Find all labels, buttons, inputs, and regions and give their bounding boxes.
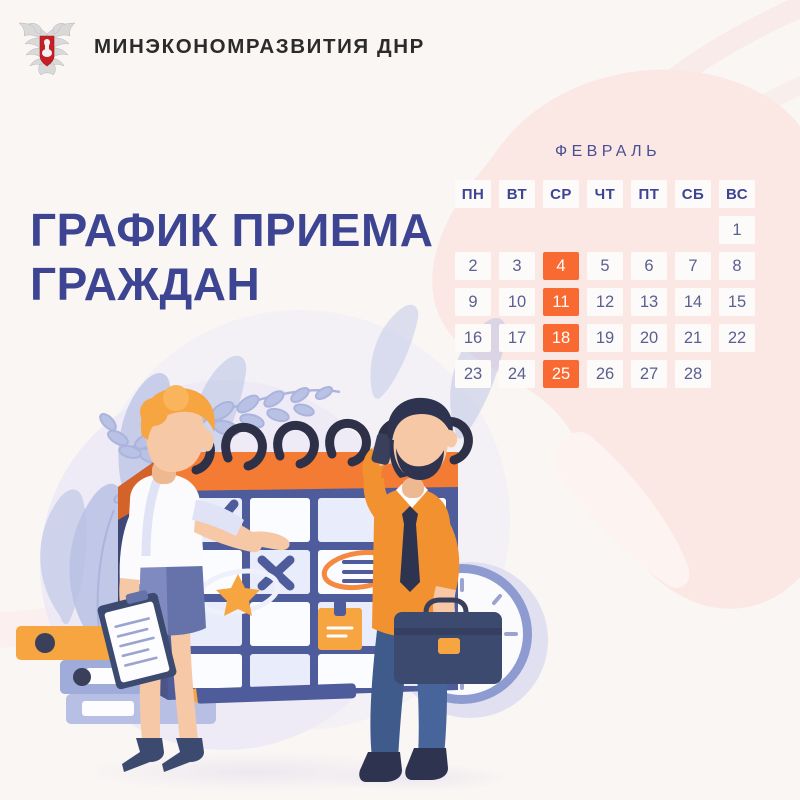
calendar-weekday-сб: СБ	[675, 180, 711, 208]
calendar-day[interactable]: 12	[587, 288, 623, 316]
site-header: МИНЭКОНОМРАЗВИТИЯ ДНР	[14, 18, 425, 76]
calendar-day[interactable]: 8	[719, 252, 755, 280]
dnr-double-headed-eagle-emblem	[14, 18, 80, 76]
calendar-day[interactable]: 21	[675, 324, 711, 352]
background-layer	[0, 0, 800, 800]
calendar-weekday-вт: ВТ	[499, 180, 535, 208]
calendar-day[interactable]: 17	[499, 324, 535, 352]
calendar-body: 1234567891011121314151617181920212223242…	[455, 216, 761, 388]
calendar-week-row: 232425262728	[455, 360, 761, 388]
calendar-weekday-пн: ПН	[455, 180, 491, 208]
calendar-week-row: 16171819202122	[455, 324, 761, 352]
calendar-day[interactable]: 14	[675, 288, 711, 316]
calendar-empty-cell	[499, 216, 535, 244]
calendar-day[interactable]: 23	[455, 360, 491, 388]
calendar-day[interactable]: 20	[631, 324, 667, 352]
calendar-day[interactable]: 13	[631, 288, 667, 316]
calendar-day[interactable]: 2	[455, 252, 491, 280]
calendar-day-highlighted[interactable]: 4	[543, 252, 579, 280]
calendar-week-row: 1	[455, 216, 761, 244]
calendar-day[interactable]: 7	[675, 252, 711, 280]
calendar-day[interactable]: 3	[499, 252, 535, 280]
calendar-empty-cell	[455, 216, 491, 244]
page-title: ГРАФИК ПРИЕМА ГРАЖДАН	[30, 203, 434, 312]
calendar-day[interactable]: 26	[587, 360, 623, 388]
calendar-weekday-ср: СР	[543, 180, 579, 208]
calendar-day[interactable]: 27	[631, 360, 667, 388]
calendar-day[interactable]: 16	[455, 324, 491, 352]
calendar-weekday-вс: ВС	[719, 180, 755, 208]
calendar-day[interactable]: 24	[499, 360, 535, 388]
calendar-week-row: 9101112131415	[455, 288, 761, 316]
calendar-empty-cell	[631, 216, 667, 244]
calendar-day[interactable]: 28	[675, 360, 711, 388]
calendar-day[interactable]: 15	[719, 288, 755, 316]
calendar-day[interactable]: 9	[455, 288, 491, 316]
calendar-month-label: ФЕВРАЛЬ	[455, 143, 761, 161]
calendar-day-highlighted[interactable]: 25	[543, 360, 579, 388]
calendar-empty-cell	[543, 216, 579, 244]
calendar-day[interactable]: 22	[719, 324, 755, 352]
page-title-line-1: ГРАФИК ПРИЕМА	[30, 203, 434, 257]
calendar-day[interactable]: 6	[631, 252, 667, 280]
calendar-day[interactable]: 1	[719, 216, 755, 244]
briefcase-icon	[394, 600, 502, 684]
calendar-day[interactable]: 5	[587, 252, 623, 280]
calendar-weekday-чт: ЧТ	[587, 180, 623, 208]
calendar-day[interactable]: 10	[499, 288, 535, 316]
calendar-empty-cell	[587, 216, 623, 244]
calendar-day-highlighted[interactable]: 18	[543, 324, 579, 352]
calendar-empty-cell	[719, 360, 755, 388]
calendar-weekday-пт: ПТ	[631, 180, 667, 208]
calendar-day[interactable]: 19	[587, 324, 623, 352]
calendar-week-row: 2345678	[455, 252, 761, 280]
brand-title: МИНЭКОНОМРАЗВИТИЯ ДНР	[94, 35, 425, 59]
calendar-day-highlighted[interactable]: 11	[543, 288, 579, 316]
page-title-line-2: ГРАЖДАН	[30, 257, 434, 311]
calendar-empty-cell	[675, 216, 711, 244]
calendar-widget: ФЕВРАЛЬ ПНВТСРЧТПТСБВС 12345678910111213…	[455, 143, 761, 396]
calendar-weekday-header: ПНВТСРЧТПТСБВС	[455, 180, 761, 208]
